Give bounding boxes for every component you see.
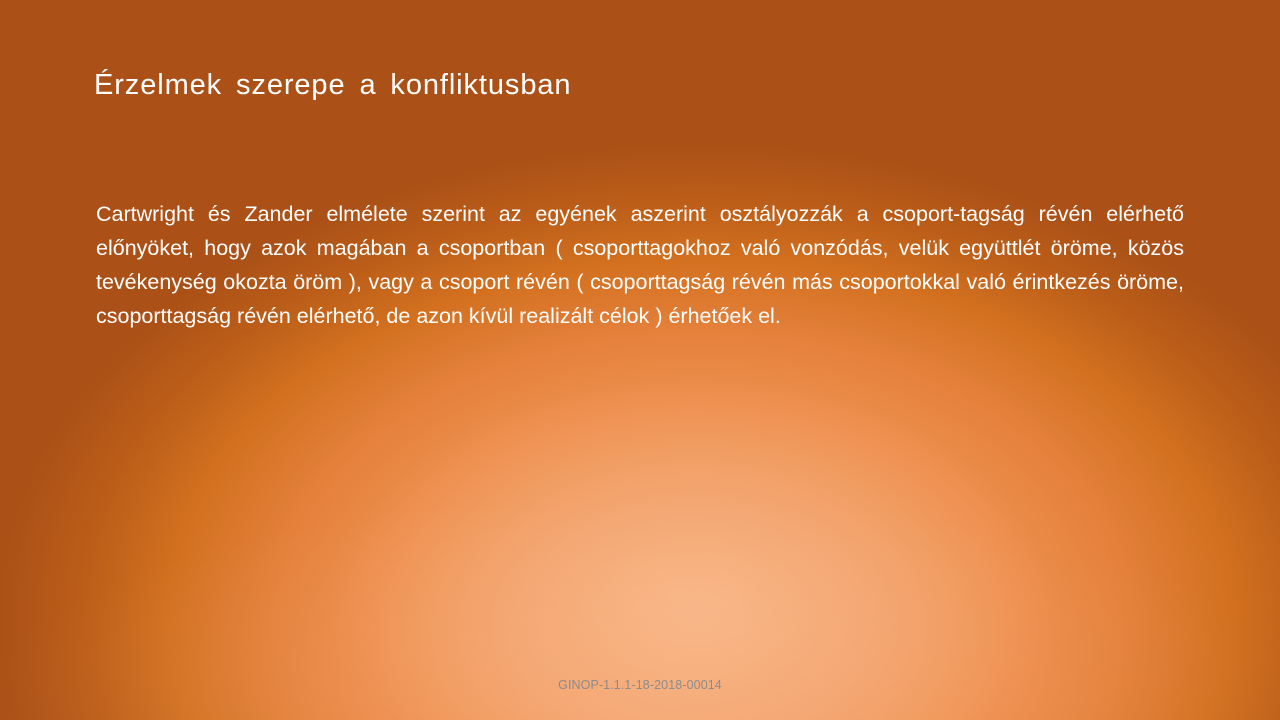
slide-body-text: Cartwright és Zander elmélete szerint az… — [96, 197, 1184, 333]
slide-footer-project-code: GINOP-1.1.1-18-2018-00014 — [0, 678, 1280, 692]
slide-content-area: Érzelmek szerepe a konfliktusban Cartwri… — [0, 0, 1280, 720]
presentation-slide: Érzelmek szerepe a konfliktusban Cartwri… — [0, 0, 1280, 720]
slide-title: Érzelmek szerepe a konfliktusban — [94, 65, 1184, 105]
